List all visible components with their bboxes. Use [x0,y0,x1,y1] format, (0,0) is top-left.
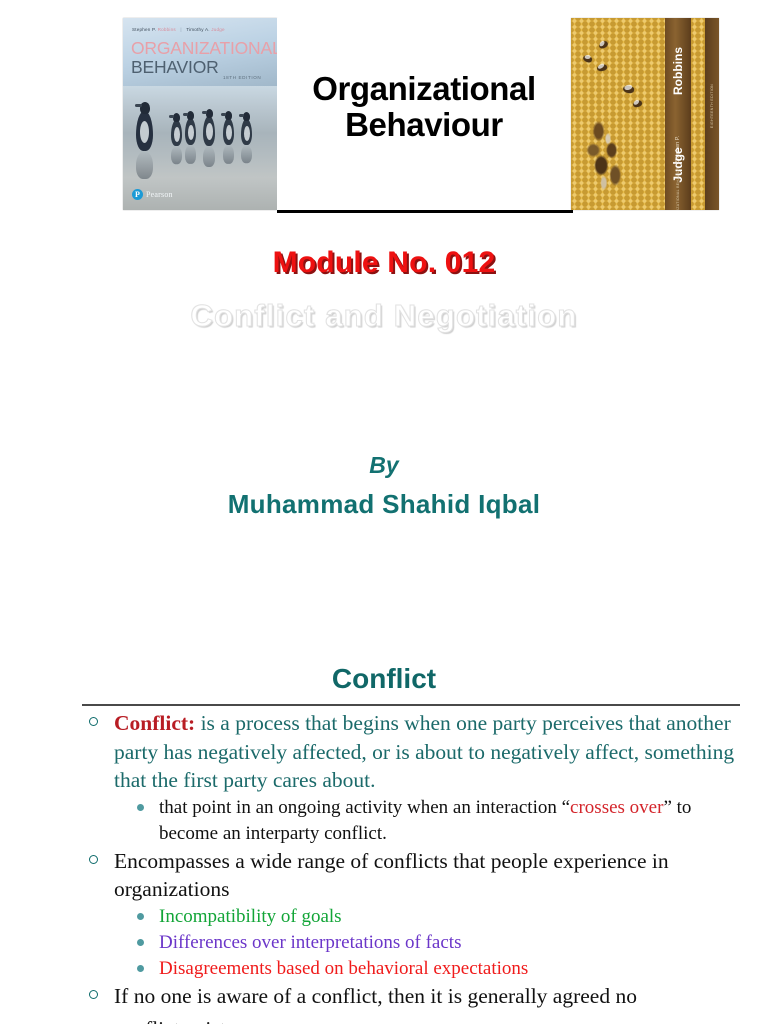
list-item: Conflict: is a process that begins when … [84,709,744,847]
honeycomb-pattern [571,18,665,210]
bullet-dot-icon [137,804,144,811]
bullet-text: If no one is aware of a conflict, then i… [114,984,637,1008]
bullet-dot-icon [137,965,144,972]
honeycomb-spine-image: Robbins Stephen P. Judge ORGANIZATIONAL … [571,18,719,210]
slide-content: Conflict: is a process that begins when … [84,709,744,1010]
spine-band-edition: EIGHTEENTH EDITION [705,18,719,210]
module-number: Module No. 012 [0,246,768,280]
bullet-text: is a process that begins when one party … [114,711,734,792]
subbullet-text: Differences over interpretations of fact… [159,932,461,953]
clipped-text: conflict exists [114,1018,768,1024]
penguin-icon [223,118,234,145]
subbullet-text-a: that point in an ongoing activity when a… [159,797,570,818]
book-cover-author1-last: Robbins [158,27,176,32]
book-cover-author2-last: Judge [211,27,225,32]
bullet-list-level2: Incompatibility of goals Differences ove… [114,904,744,982]
subbullet-text: Incompatibility of goals [159,906,342,927]
module-subtitle: Conflict and Negotiation [0,298,768,334]
spine-imprint: ORGANIZATIONAL BEHAVIOR [676,167,680,210]
clipped-overflow-line: conflict exists [0,1018,768,1024]
bee-icon [623,85,635,93]
book-cover-image: Stephen P. Robbins | Timothy A. Judge OR… [123,18,277,210]
pearson-label: Pearson [146,190,173,199]
bee-icon [598,40,609,50]
bee-icon [582,55,593,64]
list-item: that point in an ongoing activity when a… [131,795,744,847]
bullet-term: Conflict: [114,711,195,735]
bee-icon [632,100,642,108]
spine-edition-label: EIGHTEENTH EDITION [710,84,714,128]
title-plate: Organizational Behaviour [277,18,571,212]
bullet-list-level2: that point in an ongoing activity when a… [114,795,744,847]
spine-band-authors: Robbins Stephen P. Judge ORGANIZATIONAL … [665,18,691,210]
bullet-circle-icon [89,855,98,864]
bullet-list-level1: Conflict: is a process that begins when … [84,709,744,1010]
penguin-icon [241,119,252,145]
subbullet-text-highlight: crosses over [570,797,663,818]
bullet-dot-icon [137,939,144,946]
subbullet-text: Disagreements based on behavioral expect… [159,958,528,979]
list-item: Encompasses a wide range of conflicts th… [84,847,744,982]
book-cover-title-line2: BEHAVIOR [131,57,219,78]
book-cover-author-separator: | [177,27,184,32]
section-divider [82,704,740,706]
bee-cluster [583,116,635,192]
header-banner: Stephen P. Robbins | Timothy A. Judge OR… [0,0,768,222]
list-item: Incompatibility of goals [131,904,744,930]
pearson-logo: P Pearson [132,189,173,200]
penguin-icon [171,120,182,146]
list-item: Differences over interpretations of fact… [131,930,744,956]
list-item: If no one is aware of a conflict, then i… [84,982,744,1011]
page-title: Organizational Behaviour [312,71,536,142]
list-item: Disagreements based on behavioral expect… [131,956,744,982]
title-underline-rule [277,210,573,213]
penguin-icon [185,118,196,145]
by-label: By [0,452,768,479]
book-cover-title-line1: ORGANIZATIONAL [131,38,277,59]
book-cover-edition: 18TH EDITION [223,75,261,80]
book-cover-author2-first: Timothy A. [186,27,210,32]
penguin-icon [203,116,215,146]
book-cover-authors: Stephen P. Robbins | Timothy A. Judge [132,27,225,32]
section-heading: Conflict [0,663,768,695]
spine-author-last-1: Robbins [671,47,685,95]
bullet-circle-icon [89,717,98,726]
book-cover-author1-first: Stephen P. [132,27,156,32]
bullet-circle-icon [89,990,98,999]
author-name: Muhammad Shahid Iqbal [0,489,768,520]
bullet-text: Encompasses a wide range of conflicts th… [114,849,669,902]
penguin-icon [136,111,153,151]
pearson-mark-icon: P [132,189,143,200]
bullet-dot-icon [137,913,144,920]
bee-icon [596,64,607,72]
honeycomb-pattern-edge [691,18,705,210]
